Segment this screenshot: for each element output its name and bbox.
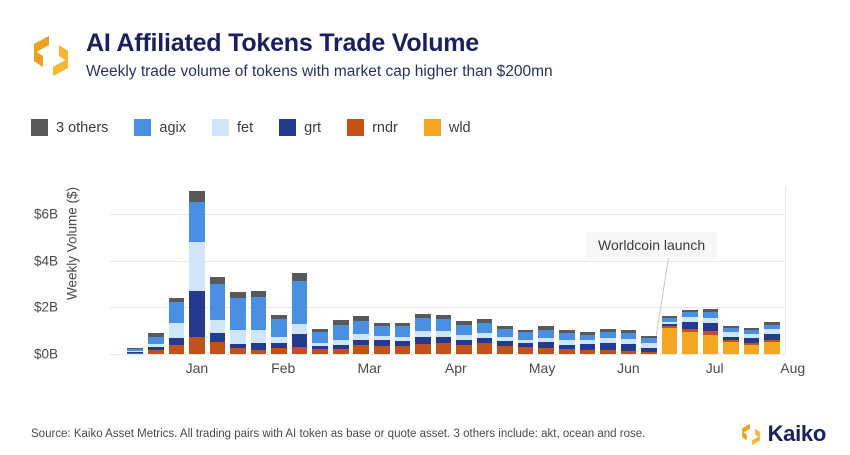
bar-segment-fet[interactable]	[374, 336, 390, 341]
bar-column[interactable]	[415, 186, 431, 354]
bar-segment-rndr[interactable]	[353, 345, 369, 354]
brand-name: Kaiko	[768, 421, 826, 447]
bar-segment-agix[interactable]	[538, 330, 554, 338]
bar-segment-rndr[interactable]	[210, 342, 226, 354]
bar-segment-agix[interactable]	[395, 326, 411, 337]
bar-segment-fet[interactable]	[353, 334, 369, 340]
bar-segment-agix[interactable]	[518, 332, 534, 339]
bar-segment-3-others[interactable]	[703, 309, 719, 312]
bar-segment-3-others[interactable]	[189, 191, 205, 203]
bar-column[interactable]	[148, 186, 164, 354]
bar-segment-rndr[interactable]	[703, 331, 719, 335]
bar-segment-fet[interactable]	[436, 331, 452, 337]
bar-segment-agix[interactable]	[127, 349, 143, 351]
bar-segment-grt[interactable]	[580, 344, 596, 350]
bar-segment-fet[interactable]	[600, 338, 616, 343]
bar-segment-3-others[interactable]	[456, 321, 472, 324]
bar-segment-fet[interactable]	[230, 330, 246, 344]
bar-segment-agix[interactable]	[744, 330, 760, 334]
y-axis-title: Weekly Volume ($)	[65, 164, 80, 324]
bar-segment-fet[interactable]	[559, 340, 575, 345]
bar-segment-grt[interactable]	[497, 341, 513, 346]
bar-segment-grt[interactable]	[518, 343, 534, 347]
bar-segment-agix[interactable]	[230, 298, 246, 330]
bar-segment-fet[interactable]	[764, 329, 780, 334]
bar-segment-fet[interactable]	[127, 351, 143, 352]
bar-segment-3-others[interactable]	[600, 329, 616, 332]
bar-segment-grt[interactable]	[723, 337, 739, 340]
bar-column[interactable]	[127, 186, 143, 354]
bar-segment-fet[interactable]	[456, 335, 472, 340]
bar-segment-wld[interactable]	[764, 342, 780, 354]
bar-column[interactable]	[641, 186, 657, 354]
bar-column[interactable]	[682, 186, 698, 354]
bar-segment-rndr[interactable]	[312, 349, 328, 354]
bar-segment-agix[interactable]	[210, 284, 226, 320]
bar-segment-rndr[interactable]	[271, 348, 287, 354]
bar-segment-3-others[interactable]	[210, 277, 226, 284]
bar-column[interactable]	[703, 186, 719, 354]
bar-segment-fet[interactable]	[148, 344, 164, 347]
bar-segment-rndr[interactable]	[415, 344, 431, 354]
bar-segment-grt[interactable]	[312, 346, 328, 350]
bar-segment-fet[interactable]	[641, 343, 657, 348]
bar-column[interactable]	[477, 186, 493, 354]
bar-segment-grt[interactable]	[374, 340, 390, 345]
x-axis-tick-label: Feb	[271, 360, 295, 376]
bar-segment-fet[interactable]	[271, 337, 287, 343]
bar-segment-fet[interactable]	[251, 330, 267, 343]
bar-segment-grt[interactable]	[148, 347, 164, 350]
annotation-worldcoin-launch: Worldcoin launch	[586, 232, 717, 258]
bar-segment-rndr[interactable]	[374, 346, 390, 354]
bar-segment-grt[interactable]	[662, 324, 678, 327]
bar-segment-fet[interactable]	[518, 340, 534, 344]
bar-segment-agix[interactable]	[682, 312, 698, 317]
bar-segment-rndr[interactable]	[600, 350, 616, 354]
bar-segment-rndr[interactable]	[395, 346, 411, 354]
bar-segment-fet[interactable]	[210, 320, 226, 333]
bar-segment-agix[interactable]	[148, 337, 164, 344]
bar-column[interactable]	[580, 186, 596, 354]
bar-segment-grt[interactable]	[682, 322, 698, 329]
bar-segment-rndr[interactable]	[456, 345, 472, 354]
y-axis-tick-label: $6B	[34, 207, 58, 222]
bar-segment-rndr[interactable]	[621, 351, 637, 354]
bar-segment-agix[interactable]	[333, 325, 349, 339]
bar-segment-agix[interactable]	[580, 335, 596, 340]
bar-column[interactable]	[497, 186, 513, 354]
bar-segment-grt[interactable]	[251, 343, 267, 350]
bar-segment-rndr[interactable]	[559, 349, 575, 354]
bar-column[interactable]	[312, 186, 328, 354]
bar-segment-fet[interactable]	[703, 318, 719, 323]
bar-column[interactable]	[189, 186, 205, 354]
bar-segment-3-others[interactable]	[580, 332, 596, 335]
bar-segment-3-others[interactable]	[682, 310, 698, 312]
bar-segment-rndr[interactable]	[169, 345, 185, 354]
x-axis-tick-label: Jul	[706, 360, 724, 376]
bar-segment-3-others[interactable]	[559, 330, 575, 333]
bar-segment-grt[interactable]	[271, 343, 287, 348]
bar-segment-grt[interactable]	[189, 291, 205, 337]
bar-segment-rndr[interactable]	[580, 350, 596, 354]
bar-segment-grt[interactable]	[456, 340, 472, 345]
bar-column[interactable]	[456, 186, 472, 354]
bar-segment-rndr[interactable]	[477, 343, 493, 354]
x-axis-tick-label: May	[529, 360, 555, 376]
bar-segment-fet[interactable]	[333, 340, 349, 345]
bar-segment-fet[interactable]	[169, 323, 185, 337]
bar-segment-fet[interactable]	[312, 343, 328, 346]
bar-segment-3-others[interactable]	[723, 326, 739, 328]
bar-segment-wld[interactable]	[682, 332, 698, 354]
bar-segment-3-others[interactable]	[436, 315, 452, 319]
bar-segment-grt[interactable]	[127, 352, 143, 353]
bar-segment-3-others[interactable]	[312, 329, 328, 332]
bar-segment-agix[interactable]	[312, 332, 328, 342]
bar-column[interactable]	[662, 186, 678, 354]
bar-segment-rndr[interactable]	[662, 326, 678, 328]
x-axis-tick-label: Jun	[617, 360, 640, 376]
bar-segment-fet[interactable]	[682, 317, 698, 322]
bar-column[interactable]	[353, 186, 369, 354]
x-axis-tick-label: Mar	[357, 360, 381, 376]
bar-segment-wld[interactable]	[662, 328, 678, 354]
bar-segment-agix[interactable]	[292, 281, 308, 324]
bar-segment-grt[interactable]	[292, 334, 308, 346]
bar-segment-grt[interactable]	[477, 338, 493, 344]
bar-segment-rndr[interactable]	[764, 340, 780, 343]
bar-segment-agix[interactable]	[456, 325, 472, 335]
bar-segment-grt[interactable]	[210, 333, 226, 342]
x-axis-tick-label: Apr	[445, 360, 467, 376]
bar-column[interactable]	[169, 186, 185, 354]
y-axis-tick-label: $0B	[34, 347, 58, 362]
bar-segment-agix[interactable]	[169, 302, 185, 323]
bar-segment-3-others[interactable]	[271, 315, 287, 319]
bar-column[interactable]	[210, 186, 226, 354]
bar-segment-grt[interactable]	[538, 342, 554, 348]
bar-segment-3-others[interactable]	[127, 348, 143, 349]
bar-column[interactable]	[723, 186, 739, 354]
bar-segment-grt[interactable]	[764, 334, 780, 340]
bar-segment-rndr[interactable]	[723, 340, 739, 342]
bar-column[interactable]	[230, 186, 246, 354]
bar-segment-3-others[interactable]	[251, 291, 267, 298]
bar-segment-rndr[interactable]	[436, 343, 452, 354]
bar-segment-agix[interactable]	[703, 312, 719, 318]
bar-segment-grt[interactable]	[230, 344, 246, 348]
bar-segment-agix[interactable]	[477, 323, 493, 333]
bar-segment-3-others[interactable]	[538, 326, 554, 329]
bar-column[interactable]	[333, 186, 349, 354]
bar-segment-agix[interactable]	[559, 333, 575, 340]
bar-column[interactable]	[600, 186, 616, 354]
source-note: Source: Kaiko Asset Metrics. All trading…	[31, 428, 645, 440]
x-axis-tick-label: Aug	[780, 360, 805, 376]
bar-segment-3-others[interactable]	[662, 316, 678, 318]
bar-segment-3-others[interactable]	[764, 322, 780, 324]
y-axis-tick-label: $2B	[34, 300, 58, 315]
bar-column[interactable]	[621, 186, 637, 354]
bar-segment-rndr[interactable]	[251, 350, 267, 354]
bar-segment-agix[interactable]	[415, 318, 431, 331]
bar-segment-grt[interactable]	[621, 344, 637, 351]
bar-series-group	[110, 186, 785, 354]
bar-segment-fet[interactable]	[580, 340, 596, 344]
bar-segment-rndr[interactable]	[744, 343, 760, 345]
bar-segment-3-others[interactable]	[497, 326, 513, 329]
bar-segment-3-others[interactable]	[641, 336, 657, 338]
bar-segment-grt[interactable]	[436, 337, 452, 343]
bar-segment-wld[interactable]	[744, 345, 760, 354]
gridline	[110, 354, 785, 355]
bar-segment-grt[interactable]	[703, 323, 719, 331]
bar-segment-fet[interactable]	[621, 339, 637, 345]
bar-segment-wld[interactable]	[723, 342, 739, 354]
bar-segment-3-others[interactable]	[292, 273, 308, 281]
bar-column[interactable]	[538, 186, 554, 354]
bar-segment-agix[interactable]	[374, 326, 390, 335]
bar-segment-agix[interactable]	[189, 202, 205, 242]
plot-area	[110, 186, 786, 354]
bar-segment-grt[interactable]	[353, 340, 369, 345]
bar-segment-3-others[interactable]	[374, 323, 390, 327]
bar-segment-rndr[interactable]	[148, 350, 164, 354]
y-axis-tick-label: $4B	[34, 253, 58, 268]
bar-column[interactable]	[374, 186, 390, 354]
bar-segment-agix[interactable]	[600, 332, 616, 338]
bar-segment-3-others[interactable]	[395, 323, 411, 326]
bar-segment-3-others[interactable]	[415, 314, 431, 318]
bar-segment-rndr[interactable]	[497, 346, 513, 354]
bar-column[interactable]	[395, 186, 411, 354]
bar-segment-rndr[interactable]	[682, 329, 698, 332]
bar-segment-fet[interactable]	[189, 242, 205, 291]
bar-segment-3-others[interactable]	[477, 319, 493, 322]
bar-segment-fet[interactable]	[538, 338, 554, 343]
bar-segment-3-others[interactable]	[621, 330, 637, 333]
bar-segment-rndr[interactable]	[292, 347, 308, 354]
bar-segment-fet[interactable]	[415, 331, 431, 337]
bar-segment-agix[interactable]	[251, 297, 267, 330]
bar-segment-grt[interactable]	[600, 343, 616, 350]
bar-segment-grt[interactable]	[641, 348, 657, 352]
bar-segment-fet[interactable]	[395, 337, 411, 342]
bar-segment-agix[interactable]	[764, 325, 780, 330]
bar-segment-agix[interactable]	[641, 338, 657, 342]
bar-segment-agix[interactable]	[621, 333, 637, 339]
bar-segment-3-others[interactable]	[744, 328, 760, 330]
brand-logo: Kaiko	[740, 421, 826, 447]
chart-page: AI Affiliated Tokens Trade Volume Weekly…	[0, 0, 850, 455]
bar-segment-agix[interactable]	[353, 321, 369, 335]
bar-segment-rndr[interactable]	[641, 352, 657, 354]
bar-column[interactable]	[251, 186, 267, 354]
chart-plot-wrap: Weekly Volume ($) $0B$2B$4B$6B JanFebMar…	[0, 0, 850, 455]
bar-column[interactable]	[518, 186, 534, 354]
bar-segment-3-others[interactable]	[333, 320, 349, 325]
bar-segment-agix[interactable]	[436, 319, 452, 331]
bar-segment-rndr[interactable]	[518, 347, 534, 354]
bar-column[interactable]	[292, 186, 308, 354]
bar-segment-agix[interactable]	[497, 329, 513, 337]
bar-segment-agix[interactable]	[723, 328, 739, 332]
kaiko-hexagon-icon	[740, 423, 762, 446]
bar-segment-grt[interactable]	[395, 341, 411, 345]
bar-segment-rndr[interactable]	[127, 353, 143, 354]
bar-column[interactable]	[436, 186, 452, 354]
bar-segment-3-others[interactable]	[518, 330, 534, 333]
bar-segment-fet[interactable]	[662, 322, 678, 324]
bar-segment-agix[interactable]	[271, 319, 287, 337]
bar-segment-grt[interactable]	[333, 345, 349, 349]
bar-segment-grt[interactable]	[415, 337, 431, 344]
bar-column[interactable]	[271, 186, 287, 354]
bar-segment-3-others[interactable]	[230, 292, 246, 298]
bar-segment-grt[interactable]	[169, 338, 185, 345]
bar-segment-rndr[interactable]	[230, 348, 246, 354]
bar-segment-rndr[interactable]	[333, 349, 349, 354]
bar-segment-fet[interactable]	[723, 332, 739, 337]
bar-segment-rndr[interactable]	[189, 337, 205, 355]
bar-segment-fet[interactable]	[497, 337, 513, 341]
bar-segment-grt[interactable]	[744, 338, 760, 343]
x-axis-tick-label: Jan	[186, 360, 209, 376]
bar-segment-fet[interactable]	[477, 333, 493, 338]
bar-column[interactable]	[559, 186, 575, 354]
bar-segment-fet[interactable]	[292, 324, 308, 334]
bar-segment-3-others[interactable]	[148, 333, 164, 337]
bar-segment-agix[interactable]	[662, 318, 678, 322]
bar-column[interactable]	[764, 186, 780, 354]
bar-segment-rndr[interactable]	[538, 348, 554, 354]
bar-segment-wld[interactable]	[703, 335, 719, 354]
bar-column[interactable]	[744, 186, 760, 354]
bar-segment-fet[interactable]	[744, 334, 760, 338]
bar-segment-3-others[interactable]	[169, 298, 185, 302]
bar-segment-grt[interactable]	[559, 345, 575, 349]
bar-segment-3-others[interactable]	[353, 316, 369, 321]
